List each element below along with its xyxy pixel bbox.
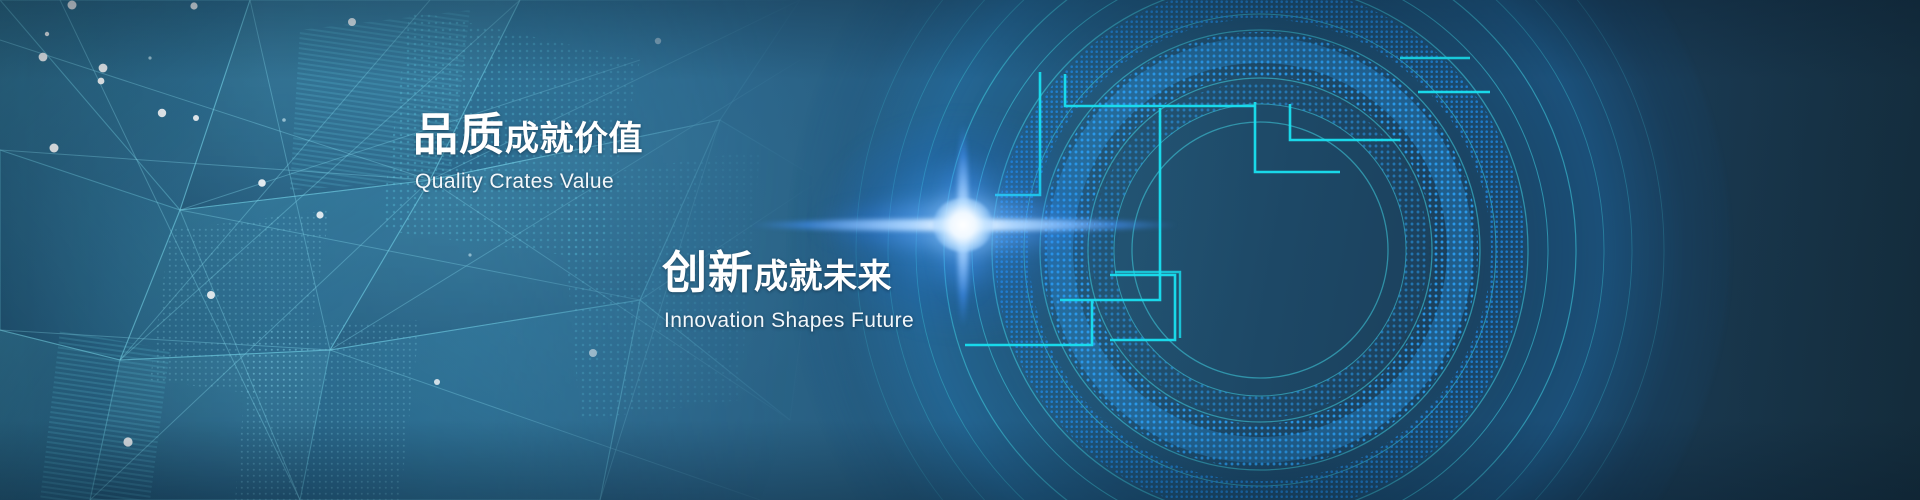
banner-text-layer: 品质成就价值 Quality Crates Value 创新成就未来 Innov…: [0, 0, 1920, 500]
headline-innovation: 创新成就未来: [662, 250, 914, 295]
headline-innovation-lead: 创新: [662, 247, 754, 298]
headline-quality-tail: 成就价值: [505, 120, 643, 158]
headline-quality-lead: 品质: [413, 109, 505, 160]
headline-block-innovation: 创新成就未来 Innovation Shapes Future: [662, 250, 914, 333]
subtitle-innovation: Innovation Shapes Future: [662, 309, 914, 333]
hero-banner: 品质成就价值 Quality Crates Value 创新成就未来 Innov…: [0, 0, 1920, 500]
subtitle-quality: Quality Crates Value: [413, 170, 643, 194]
headline-innovation-tail: 成就未来: [754, 258, 892, 296]
headline-quality: 品质成就价值: [413, 112, 643, 157]
headline-block-quality: 品质成就价值 Quality Crates Value: [413, 112, 643, 194]
